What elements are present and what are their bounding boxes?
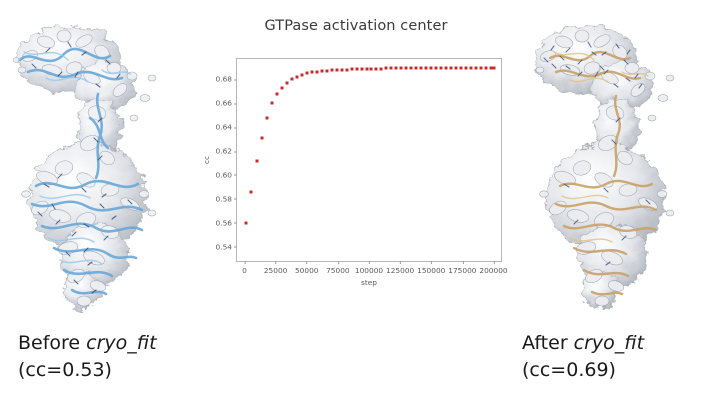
caption-after-value: (cc=0.69)	[522, 357, 644, 384]
y-axis-tick: 0.64	[216, 123, 237, 132]
data-point	[380, 67, 383, 70]
x-axis-tick: 25000	[264, 261, 288, 275]
data-point	[325, 69, 328, 72]
data-point	[435, 66, 438, 69]
data-point	[244, 221, 247, 224]
data-point	[445, 66, 448, 69]
data-point	[265, 116, 268, 119]
caption-after-emphasis: cryo_fit	[574, 332, 644, 354]
data-point	[280, 86, 283, 89]
y-axis-tick: 0.68	[216, 75, 237, 84]
y-axis-tick: 0.58	[216, 194, 237, 203]
data-point	[455, 66, 458, 69]
data-point	[430, 66, 433, 69]
x-axis-tick: 200000	[479, 261, 507, 275]
data-point	[485, 66, 488, 69]
data-point	[395, 67, 398, 70]
cryo-em-structure-after	[520, 8, 710, 320]
x-axis-tick: 125000	[386, 261, 414, 275]
cc-vs-step-chart: GTPase activation center cc 0.540.560.58…	[200, 10, 512, 305]
data-point	[355, 68, 358, 71]
data-point	[260, 136, 263, 139]
x-axis-tick: 100000	[355, 261, 383, 275]
data-point	[300, 73, 303, 76]
x-axis-label: step	[236, 278, 502, 287]
data-point	[365, 67, 368, 70]
data-point	[330, 69, 333, 72]
x-axis-tick: 0	[242, 261, 247, 275]
data-point	[410, 67, 413, 70]
caption-after: After cryo_fit (cc=0.69)	[522, 330, 644, 384]
data-point	[249, 190, 252, 193]
data-point	[425, 66, 428, 69]
data-point	[492, 66, 495, 69]
data-point	[310, 71, 313, 74]
data-point	[450, 66, 453, 69]
data-point	[275, 92, 278, 95]
data-point	[385, 67, 388, 70]
data-point	[400, 67, 403, 70]
molecule-before-svg	[2, 8, 192, 320]
data-point	[345, 68, 348, 71]
data-point	[360, 68, 363, 71]
data-point	[420, 67, 423, 70]
caption-before-emphasis: cryo_fit	[86, 332, 156, 354]
x-axis-tick: 175000	[448, 261, 476, 275]
data-point	[285, 81, 288, 84]
x-axis-tick: 75000	[326, 261, 350, 275]
y-axis-tick: 0.60	[216, 170, 237, 179]
x-axis-tick: 50000	[295, 261, 319, 275]
chart-title: GTPase activation center	[200, 18, 512, 34]
y-axis-tick: 0.66	[216, 99, 237, 108]
data-point	[370, 67, 373, 70]
data-point	[255, 159, 258, 162]
data-point	[470, 66, 473, 69]
y-axis-tick: 0.54	[216, 242, 237, 251]
plot-area: 0.540.560.580.600.620.640.660.6802500050…	[236, 58, 502, 262]
data-point	[350, 68, 353, 71]
caption-before-value: (cc=0.53)	[18, 357, 157, 384]
data-point	[375, 67, 378, 70]
data-point	[315, 70, 318, 73]
data-point	[340, 68, 343, 71]
data-point	[480, 66, 483, 69]
data-point	[475, 66, 478, 69]
data-point	[415, 67, 418, 70]
data-point	[305, 72, 308, 75]
y-axis-tick: 0.56	[216, 218, 237, 227]
data-points-layer	[237, 59, 501, 261]
caption-after-prefix: After	[522, 332, 574, 354]
data-point	[270, 102, 273, 105]
data-point	[460, 66, 463, 69]
data-point	[290, 78, 293, 81]
y-axis-label: cc	[202, 58, 212, 262]
data-point	[465, 66, 468, 69]
data-point	[320, 69, 323, 72]
data-point	[295, 75, 298, 78]
molecule-after-svg	[520, 8, 710, 320]
data-point	[405, 67, 408, 70]
x-axis-tick: 150000	[417, 261, 445, 275]
data-point	[440, 66, 443, 69]
data-point	[390, 67, 393, 70]
cryo-em-structure-before	[2, 8, 192, 320]
caption-before-prefix: Before	[18, 332, 86, 354]
y-axis-tick: 0.62	[216, 147, 237, 156]
data-point	[335, 68, 338, 71]
caption-before: Before cryo_fit (cc=0.53)	[18, 330, 157, 384]
